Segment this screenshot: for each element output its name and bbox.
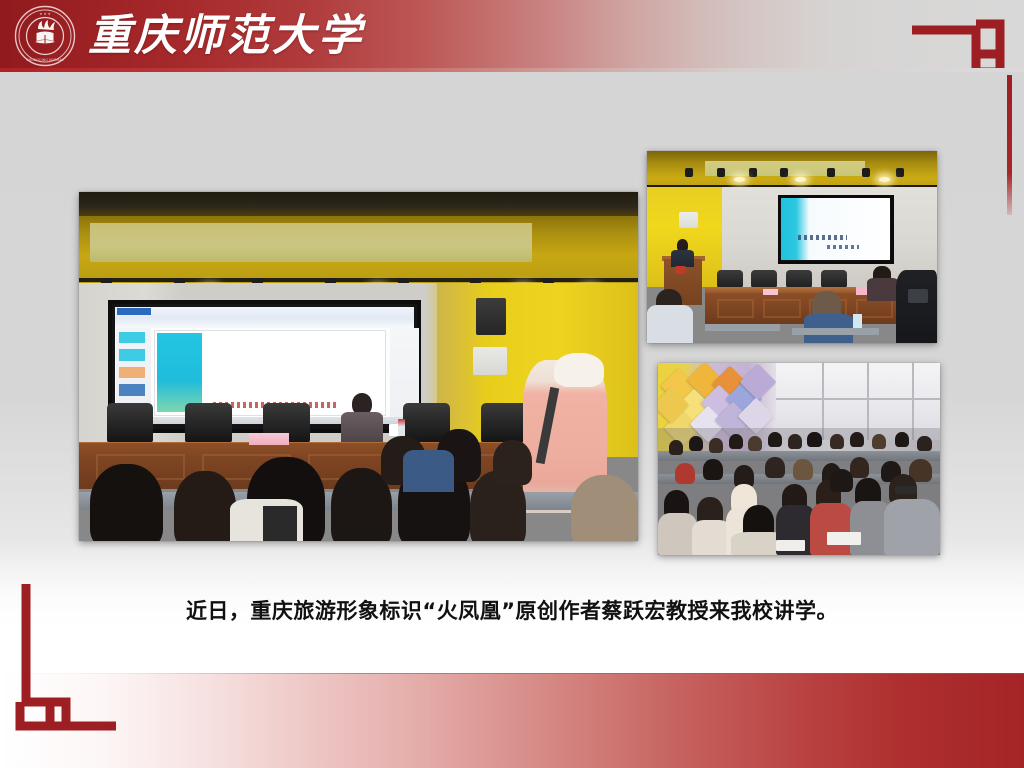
svg-text:★ ★ ★: ★ ★ ★ — [39, 12, 50, 16]
audience-photo — [658, 363, 940, 555]
bottom-red-gradient-band — [0, 674, 1024, 768]
slide-root: ★ ★ ★ CHONGQING NORMAL 重庆师范大学 — [0, 0, 1024, 768]
meander-corner-bottom-left-icon — [4, 584, 132, 744]
university-name: 重庆师范大学 — [88, 7, 364, 65]
slide-header: ★ ★ ★ CHONGQING NORMAL 重庆师范大学 — [0, 0, 1024, 72]
speaker-podium-photo — [647, 151, 937, 343]
svg-text:CHONGQING NORMAL: CHONGQING NORMAL — [26, 58, 63, 62]
bottom-white-fade — [0, 634, 1024, 674]
slide-caption: 近日，重庆旅游形象标识“火凤凰”原创作者蔡跃宏教授来我校讲学。 — [0, 596, 1024, 626]
right-accent-rule — [1007, 75, 1012, 215]
university-seal-icon: ★ ★ ★ CHONGQING NORMAL — [14, 5, 76, 67]
meander-corner-top-right-icon — [906, 2, 1024, 72]
lecture-hall-wide-photo — [79, 192, 638, 541]
header-underline — [0, 68, 1024, 72]
